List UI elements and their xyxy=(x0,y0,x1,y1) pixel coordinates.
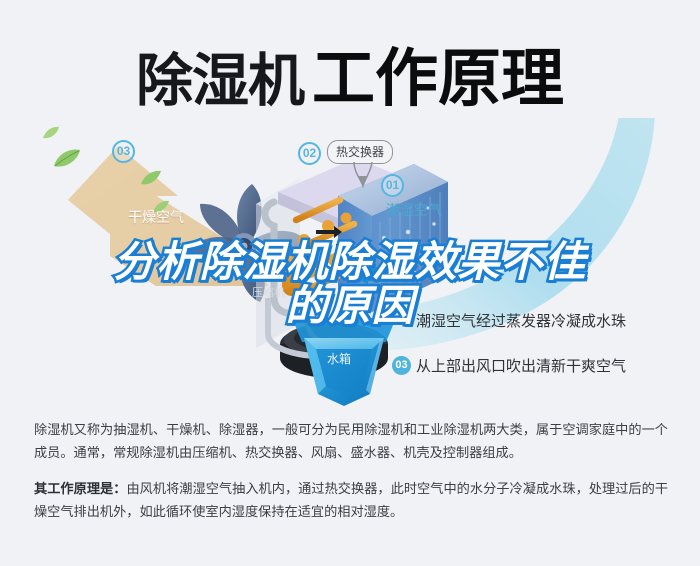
list-item: 02 潮湿空气经过蒸发器冷凝成水珠 xyxy=(392,310,692,331)
label-moist-air: 潮湿空气 xyxy=(386,200,442,220)
heat-exchanger-callout: 热交换器 xyxy=(327,140,393,164)
page-title-part1: 除湿机 xyxy=(136,49,304,113)
bullet-text: 潮湿空气经过蒸发器冷凝成水珠 xyxy=(416,310,626,331)
body-copy: 除湿机又称为抽湿机、干燥机、除湿器，一般可分为民用除湿机和工业除湿机两大类，属于… xyxy=(34,418,668,536)
page-title: 除湿机工作原理 xyxy=(0,28,700,119)
leaf-icon xyxy=(42,126,60,140)
body-paragraph-2-lead: 其工作原理是： xyxy=(34,481,126,496)
intake-arrow-icon xyxy=(352,263,400,285)
badge-01: 01 xyxy=(381,174,404,197)
body-paragraph-2: 其工作原理是：由风机将潮湿空气抽入机内，通过热交换器，此时空气中的水分子冷凝成水… xyxy=(34,477,668,523)
poster-root: 除湿机工作原理 xyxy=(0,0,700,566)
leaf-icon xyxy=(140,170,162,187)
label-water-tank: 水箱 xyxy=(327,350,351,367)
page-title-part2: 工作原理 xyxy=(312,44,564,114)
label-compressor: 压缩机 xyxy=(252,284,285,300)
label-dry-air: 干燥空气 xyxy=(128,207,184,227)
callout-tail-icon xyxy=(352,162,374,188)
bullet-text: 从上部出风口吹出清新干爽空气 xyxy=(416,355,626,376)
badge-03: 03 xyxy=(112,140,135,163)
list-item: 03 从上部出风口吹出清新干爽空气 xyxy=(392,355,692,376)
badge-02: 02 xyxy=(298,142,321,165)
leaf-icon xyxy=(52,148,82,170)
bullet-number: 03 xyxy=(392,356,411,375)
body-paragraph-1: 除湿机又称为抽湿机、干燥机、除湿器，一般可分为民用除湿机和工业除湿机两大类，属于… xyxy=(34,418,668,464)
process-bullet-list: 02 潮湿空气经过蒸发器冷凝成水珠 03 从上部出风口吹出清新干爽空气 xyxy=(392,310,692,400)
body-paragraph-2-rest: 由风机将潮湿空气抽入机内，通过热交换器，此时空气中的水分子冷凝成水珠，处理过后的… xyxy=(34,481,668,519)
